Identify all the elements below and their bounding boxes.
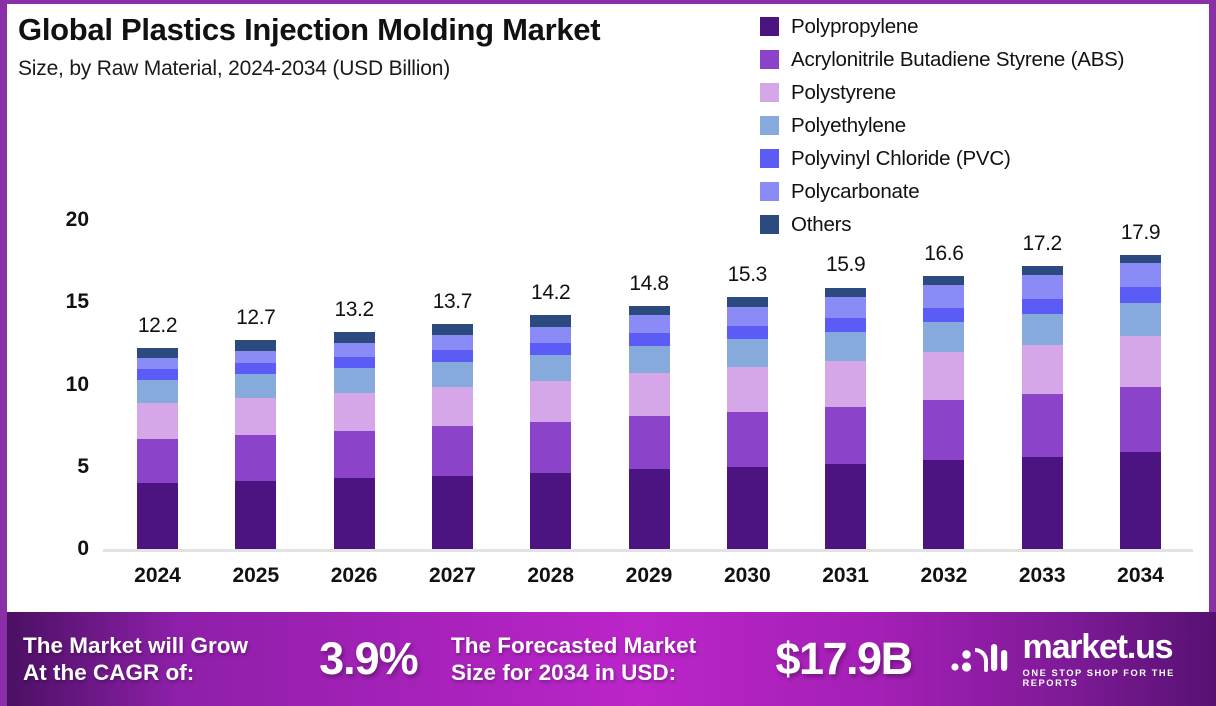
bar-segment[interactable] — [137, 483, 178, 549]
x-axis-tick-label: 2026 — [309, 564, 399, 588]
bar-segment[interactable] — [334, 368, 375, 393]
bar-segment[interactable] — [530, 381, 571, 422]
bar-segment[interactable] — [1022, 299, 1063, 314]
bar-segment[interactable] — [1022, 266, 1063, 275]
bar-segment[interactable] — [1120, 336, 1161, 387]
forecast-value: $17.9B — [741, 633, 947, 685]
x-axis-tick-label: 2030 — [702, 564, 792, 588]
bar-segment[interactable] — [1120, 387, 1161, 452]
bar-segment[interactable] — [825, 464, 866, 549]
bar-segment[interactable] — [923, 460, 964, 549]
bar-segment[interactable] — [923, 276, 964, 285]
bar-segment[interactable] — [1120, 452, 1161, 549]
bar-segment[interactable] — [629, 416, 670, 469]
bar-segment[interactable] — [1120, 303, 1161, 336]
bar-segment[interactable] — [629, 346, 670, 373]
x-axis-tick-label: 2034 — [1096, 564, 1186, 588]
bar-segment[interactable] — [629, 315, 670, 333]
stacked-bar[interactable] — [825, 288, 866, 549]
bar-value-label: 14.2 — [506, 281, 596, 305]
stacked-bar[interactable] — [235, 340, 276, 549]
bar-segment[interactable] — [1022, 275, 1063, 299]
bar-segment[interactable] — [825, 361, 866, 407]
x-axis-tick-label: 2027 — [407, 564, 497, 588]
bar-segment[interactable] — [727, 297, 768, 307]
bar-segment[interactable] — [137, 348, 178, 358]
bar-segment[interactable] — [629, 373, 670, 416]
bar-segment[interactable] — [235, 398, 276, 435]
bar-segment[interactable] — [727, 367, 768, 411]
x-axis-line — [103, 549, 1193, 552]
bar-segment[interactable] — [727, 467, 768, 549]
bar-segment[interactable] — [923, 352, 964, 400]
bar-segment[interactable] — [1022, 394, 1063, 457]
cagr-caption-line-1: The Market will Grow — [23, 632, 282, 659]
bar-segment[interactable] — [530, 473, 571, 549]
bar-segment[interactable] — [235, 435, 276, 481]
market-us-logo-icon — [951, 638, 1013, 681]
bar-segment[interactable] — [334, 393, 375, 431]
bar-value-label: 12.7 — [211, 306, 301, 330]
bar-segment[interactable] — [137, 369, 178, 380]
bar-segment[interactable] — [825, 297, 866, 318]
bar-segment[interactable] — [825, 318, 866, 332]
bar-value-label: 15.9 — [801, 253, 891, 277]
bar-value-label: 16.6 — [899, 242, 989, 266]
bar-segment[interactable] — [432, 324, 473, 336]
bar-segment[interactable] — [1120, 263, 1161, 288]
bar-value-label: 14.8 — [604, 272, 694, 296]
bar-value-label: 15.3 — [702, 263, 792, 287]
bar-segment[interactable] — [923, 322, 964, 352]
bar-segment[interactable] — [923, 308, 964, 322]
bar-segment[interactable] — [727, 412, 768, 467]
cagr-caption: The Market will Grow At the CAGR of: — [23, 632, 282, 686]
bar-value-label: 17.2 — [997, 232, 1087, 256]
x-axis-tick-label: 2031 — [801, 564, 891, 588]
stacked-bar[interactable] — [432, 324, 473, 549]
bar-segment[interactable] — [923, 285, 964, 308]
bar-segment[interactable] — [334, 343, 375, 356]
bar-segment[interactable] — [629, 333, 670, 346]
chart-page: Global Plastics Injection Molding Market… — [0, 0, 1216, 706]
cagr-value: 3.9% — [292, 633, 445, 685]
bar-segment[interactable] — [1022, 457, 1063, 549]
bar-segment[interactable] — [1022, 314, 1063, 345]
bar-segment[interactable] — [629, 469, 670, 549]
forecast-caption-line-2: Size for 2034 in USD: — [451, 659, 738, 686]
bar-segment[interactable] — [825, 407, 866, 465]
bar-segment[interactable] — [334, 431, 375, 479]
bar-segment[interactable] — [727, 307, 768, 326]
bar-segment[interactable] — [235, 481, 276, 549]
bar-segment[interactable] — [1120, 255, 1161, 263]
bar-segment[interactable] — [137, 380, 178, 403]
bar-segment[interactable] — [530, 315, 571, 327]
stacked-bar[interactable] — [923, 276, 964, 549]
stacked-bar[interactable] — [727, 297, 768, 549]
bar-value-label: 13.2 — [309, 298, 399, 322]
bar-segment[interactable] — [235, 351, 276, 363]
x-axis-tick-label: 2024 — [113, 564, 203, 588]
forecast-caption: The Forecasted Market Size for 2034 in U… — [451, 632, 738, 686]
stacked-bar[interactable] — [629, 306, 670, 549]
bar-segment[interactable] — [530, 327, 571, 343]
bar-segment[interactable] — [137, 403, 178, 439]
bar-segment[interactable] — [530, 355, 571, 381]
forecast-caption-line-1: The Forecasted Market — [451, 632, 738, 659]
x-axis-tick-label: 2029 — [604, 564, 694, 588]
bar-segment[interactable] — [530, 422, 571, 473]
cagr-caption-line-2: At the CAGR of: — [23, 659, 282, 686]
x-axis-tick-label: 2033 — [997, 564, 1087, 588]
bar-value-label: 13.7 — [407, 290, 497, 314]
x-axis-tick-label: 2028 — [506, 564, 596, 588]
bar-segment[interactable] — [825, 288, 866, 297]
bar-segment[interactable] — [137, 358, 178, 369]
bar-segment[interactable] — [432, 350, 473, 362]
stacked-bar[interactable] — [334, 332, 375, 549]
x-axis-tick-label: 2025 — [211, 564, 301, 588]
bar-segment[interactable] — [530, 343, 571, 355]
footer-banner: The Market will Grow At the CAGR of: 3.9… — [7, 612, 1216, 706]
bar-segment[interactable] — [432, 362, 473, 387]
bar-segment[interactable] — [432, 476, 473, 549]
bar-segment[interactable] — [432, 387, 473, 426]
bar-segment[interactable] — [137, 439, 178, 483]
bar-segment[interactable] — [334, 478, 375, 549]
bar-segment[interactable] — [235, 340, 276, 351]
bar-segment[interactable] — [629, 306, 670, 316]
bar-segment[interactable] — [727, 326, 768, 339]
market-us-logo[interactable]: market.us ONE STOP SHOP FOR THE REPORTS — [951, 630, 1216, 688]
logo-tagline: ONE STOP SHOP FOR THE REPORTS — [1023, 668, 1216, 688]
bar-segment[interactable] — [334, 332, 375, 344]
bar-segment[interactable] — [432, 335, 473, 349]
logo-wordmark: market.us — [1023, 630, 1216, 664]
x-axis-tick-label: 2032 — [899, 564, 989, 588]
bar-segment[interactable] — [825, 332, 866, 361]
stacked-bar[interactable] — [137, 348, 178, 549]
bar-segment[interactable] — [727, 339, 768, 367]
stacked-bar[interactable] — [1120, 255, 1161, 549]
bar-segment[interactable] — [1022, 345, 1063, 394]
bar-value-label: 17.9 — [1096, 221, 1186, 245]
bar-segment[interactable] — [432, 426, 473, 475]
logo-text: market.us ONE STOP SHOP FOR THE REPORTS — [1023, 630, 1216, 688]
bar-segment[interactable] — [235, 374, 276, 398]
stacked-bar[interactable] — [530, 315, 571, 549]
chart-plot-area: 05101520 2024202520262027202820292030203… — [7, 4, 1216, 604]
bar-segment[interactable] — [235, 363, 276, 374]
bar-segment[interactable] — [923, 400, 964, 460]
stacked-bar[interactable] — [1022, 266, 1063, 549]
bar-segment[interactable] — [334, 357, 375, 369]
bar-value-label: 12.2 — [113, 314, 203, 338]
bar-segment[interactable] — [1120, 287, 1161, 303]
